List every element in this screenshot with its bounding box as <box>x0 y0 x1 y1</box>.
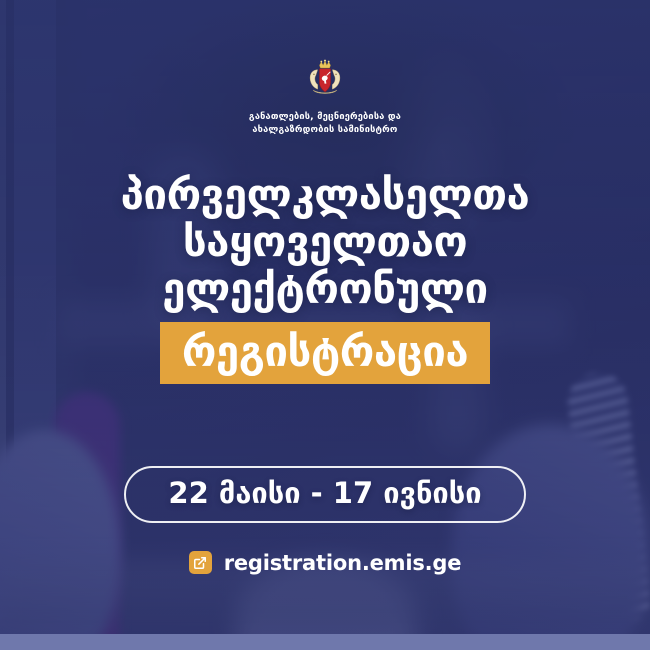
headline-highlight-registration: რეგისტრაცია <box>160 322 490 384</box>
poster-canvas: განათლების, მეცნიერებისა და ახალგაზრდობი… <box>0 0 650 650</box>
headline-line-2: საყოველთაო <box>121 218 530 265</box>
bottom-accent-band <box>0 634 650 650</box>
ministry-name-line1: განათლების, მეცნიერებისა და <box>249 110 401 123</box>
headline-highlight-wrap: რეგისტრაცია <box>160 322 490 384</box>
ministry-name-line2: ახალგაზრდობის სამინისტრო <box>249 123 401 136</box>
ministry-name: განათლების, მეცნიერებისა და ახალგაზრდობი… <box>249 110 401 137</box>
headline-line-3: ელექტრონული <box>121 265 530 312</box>
date-range-badge: 22 მაისი - 17 ივნისი <box>124 466 525 523</box>
website-url-text: registration.emis.ge <box>224 551 462 575</box>
ministry-branding: განათლების, მეცნიერებისა და ახალგაზრდობი… <box>249 56 401 137</box>
headline: პირველკლასელთა საყოველთაო ელექტრონული <box>121 171 530 312</box>
external-link-icon <box>189 551 212 574</box>
website-link[interactable]: registration.emis.ge <box>189 551 462 575</box>
georgian-coat-of-arms-icon <box>302 56 348 102</box>
headline-line-1: პირველკლასელთა <box>121 171 530 218</box>
poster-content: განათლების, მეცნიერებისა და ახალგაზრდობი… <box>0 0 650 650</box>
